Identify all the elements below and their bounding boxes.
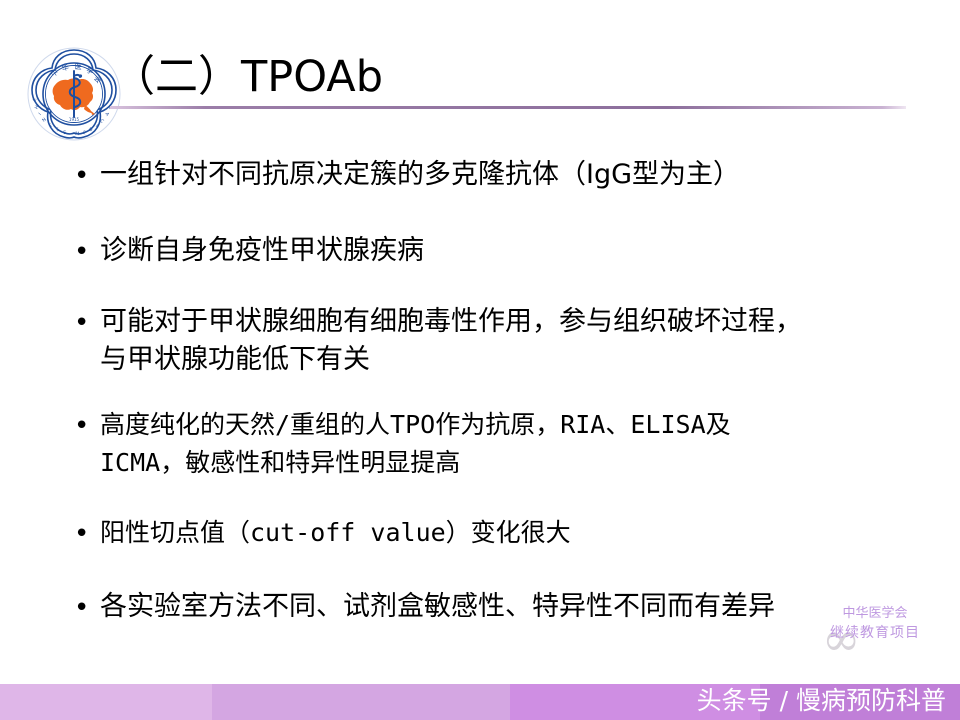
list-item: • 各实验室方法不同、试剂盒敏感性、特异性不同而有差异	[68, 588, 948, 628]
svg-text:N: N	[41, 117, 47, 124]
slide-body: • 一组针对不同抗原决定簇的多克隆抗体（IgG型为主） • 诊断自身免疫性甲状腺…	[0, 128, 960, 668]
bullet-marker-icon: •	[68, 406, 100, 446]
bullet-marker-icon: •	[68, 514, 100, 554]
page-title: （二）TPOAb	[112, 50, 383, 104]
list-item: • 一组针对不同抗原决定簇的多克隆抗体（IgG型为主）	[68, 156, 948, 196]
list-item: • 阳性切点值（cut-off value）变化很大	[68, 514, 948, 554]
bullet-marker-icon: •	[68, 588, 100, 628]
bottom-bar: 头条号 / 慢病预防科普	[0, 684, 960, 720]
svg-text:医: 医	[74, 63, 82, 71]
bullet-marker-icon: •	[68, 303, 100, 343]
bullet-marker-icon: •	[68, 156, 100, 196]
list-item: • 诊断自身免疫性甲状腺疾病	[68, 232, 948, 272]
bullet-text: 可能对于甲状腺细胞有细胞毒性作用，参与组织破坏过程， 与甲状腺功能低下有关	[100, 303, 948, 379]
bullet-text: 阳性切点值（cut-off value）变化很大	[100, 514, 948, 552]
svg-text:I: I	[38, 112, 43, 117]
bullet-text: 一组针对不同抗原决定簇的多克隆抗体（IgG型为主）	[100, 156, 948, 194]
list-item: • 可能对于甲状腺细胞有细胞毒性作用，参与组织破坏过程， 与甲状腺功能低下有关	[68, 303, 948, 379]
bar-segment-1	[0, 684, 212, 720]
bullet-text: 高度纯化的天然/重组的人TPO作为抗原，RIA、ELISA及 ICMA，敏感性和…	[100, 406, 948, 482]
bullet-text: 各实验室方法不同、试剂盒敏感性、特异性不同而有差异	[100, 588, 948, 626]
svg-text:A: A	[103, 111, 110, 118]
list-item: • 高度纯化的天然/重组的人TPO作为抗原，RIA、ELISA及 ICMA，敏感…	[68, 406, 948, 482]
slide: 中 华 医 学 会 C H I N E S E M E D	[0, 0, 960, 720]
title-underline-rule	[110, 106, 906, 109]
source-credit: 头条号 / 慢病预防科普	[697, 684, 946, 720]
bullet-text: 诊断自身免疫性甲状腺疾病	[100, 232, 948, 270]
bullet-marker-icon: •	[68, 232, 100, 272]
bar-segment-2	[212, 684, 510, 720]
slide-header: 中 华 医 学 会 C H I N E S E M E D	[0, 0, 960, 125]
svg-text:1915: 1915	[69, 117, 80, 122]
